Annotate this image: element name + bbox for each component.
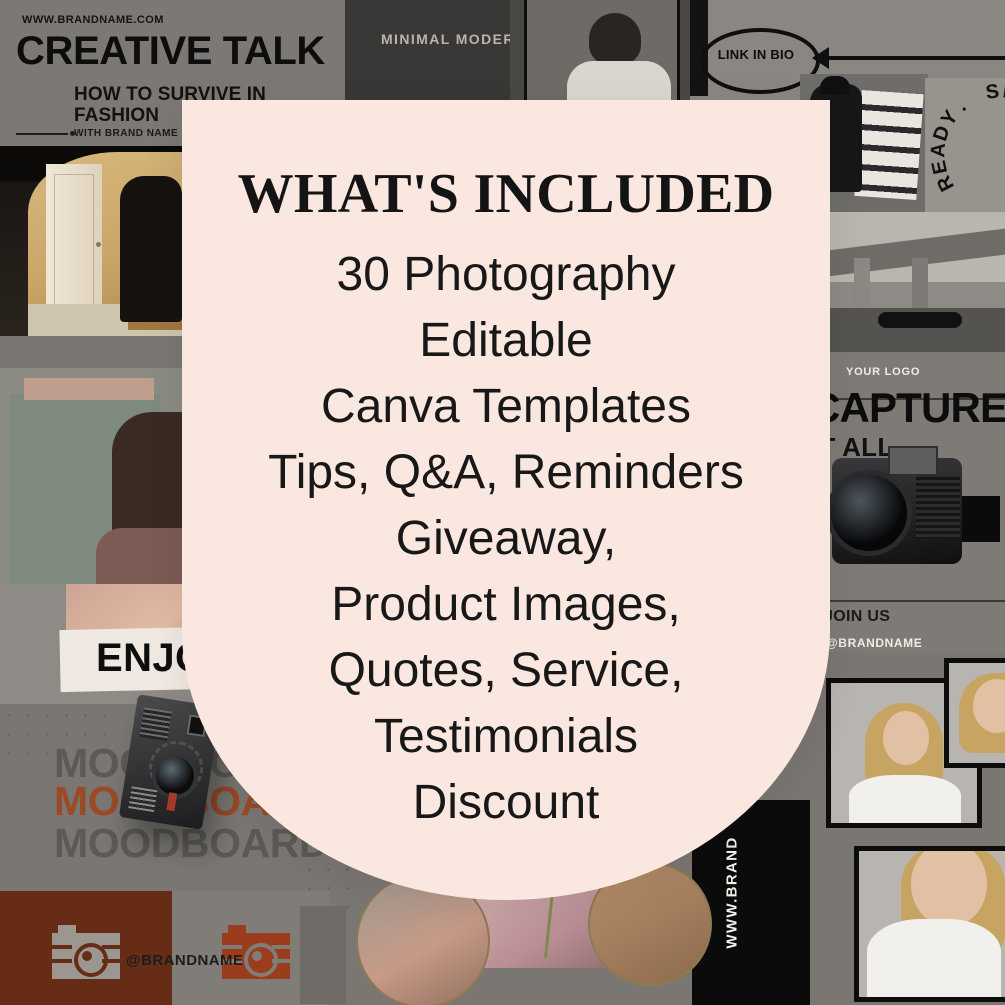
camera-red-accent <box>166 792 177 811</box>
camera-bump <box>228 925 246 934</box>
dslr-camera-icon <box>832 458 962 564</box>
camera-flash <box>888 446 938 476</box>
ready-set-wow-char: A <box>927 142 951 158</box>
door-knob <box>96 242 101 247</box>
arrow-line <box>818 56 1005 60</box>
room-door <box>46 164 102 324</box>
shirt <box>849 775 961 827</box>
camera-grip <box>916 474 960 538</box>
overlay-title: WHAT'S INCLUDED <box>182 162 830 226</box>
capture-title: CAPTURE <box>818 384 1005 432</box>
camera-stripe <box>52 959 72 963</box>
skateboard <box>854 90 923 200</box>
pillar <box>854 258 870 312</box>
camera-stripe <box>222 945 242 949</box>
camera-lens-dot <box>82 951 92 961</box>
whats-included-overlay: WHAT'S INCLUDED 30 PhotographyEditableCa… <box>182 100 830 900</box>
capture-handle: @BRANDNAME <box>826 636 922 650</box>
camera-lens-ring <box>74 943 108 977</box>
portrait-frame-2 <box>944 658 1005 768</box>
profile-shirt <box>96 528 196 584</box>
capture-card: YOUR LOGO CAPTURE IT ALL JOIN US @BRANDN… <box>818 352 1005 652</box>
overlay-item-2: Editable <box>182 308 830 374</box>
brand-website: WWW.BRANDNAME.COM <box>22 14 164 26</box>
overlay-item-7: Quotes, Service, <box>182 638 830 704</box>
gray-square-accent <box>300 906 346 1004</box>
divider-line <box>16 133 68 135</box>
overlay-item-3: Canva Templates <box>182 374 830 440</box>
camera-lens-dot <box>252 951 262 961</box>
person-shoulders <box>567 61 671 100</box>
person-head <box>589 13 641 65</box>
lying-person <box>878 312 962 328</box>
black-accent-block <box>958 496 1000 542</box>
arrow-left-icon <box>812 47 829 69</box>
overlay-item-4: Tips, Q&A, Reminders <box>182 440 830 506</box>
overlay-item-1: 30 Photography <box>182 242 830 308</box>
camera-stripe <box>52 945 72 949</box>
footer-brand-handle: @BRANDNAME <box>126 952 243 969</box>
shirt <box>867 919 1001 1001</box>
overlay-item-5: Giveaway, <box>182 506 830 572</box>
photo-underpass <box>820 212 1005 352</box>
creative-talk-title: CREATIVE TALK <box>16 29 325 74</box>
photo-man-bw <box>510 0 690 100</box>
skater-hat <box>820 76 850 94</box>
overlay-item-8: Testimonials <box>182 704 830 770</box>
overlay-item-9: Discount <box>182 770 830 836</box>
collage-canvas: WWW.BRANDNAME.COM CREATIVE TALK HOW TO S… <box>0 0 1005 1005</box>
photo-frame <box>524 0 680 100</box>
camera-bump <box>58 925 76 934</box>
ready-set-wow-badge: READY. SET. WOW! <box>925 78 1005 230</box>
photo-room-portrait <box>0 146 196 336</box>
camera-lens <box>826 470 912 556</box>
pillar <box>912 258 928 312</box>
seated-person <box>120 176 182 322</box>
pink-tape-strip <box>24 378 154 400</box>
portrait-frame-3 <box>854 846 1005 1002</box>
camera-bottom-grill <box>128 786 157 812</box>
creative-talk-credit: WITH BRAND NAME <box>74 128 178 139</box>
ready-set-wow-char: R <box>933 171 960 195</box>
camera-stripe <box>272 945 290 949</box>
camera-grill <box>140 707 172 741</box>
photo-sage-profile <box>0 368 196 584</box>
camera-stripe <box>102 945 120 949</box>
camera-lens-ring <box>244 943 278 977</box>
ready-set-wow-char: S <box>984 80 1000 105</box>
ready-set-wow-char: E <box>1001 80 1005 105</box>
overlay-item-6: Product Images, <box>182 572 830 638</box>
face <box>883 711 929 765</box>
capture-cta: JOIN US <box>824 608 890 626</box>
overlay-item-list: 30 PhotographyEditableCanva TemplatesTip… <box>182 242 830 836</box>
link-in-bio-label: LINK IN BIO <box>704 47 808 62</box>
capture-logo-text: YOUR LOGO <box>846 366 920 378</box>
